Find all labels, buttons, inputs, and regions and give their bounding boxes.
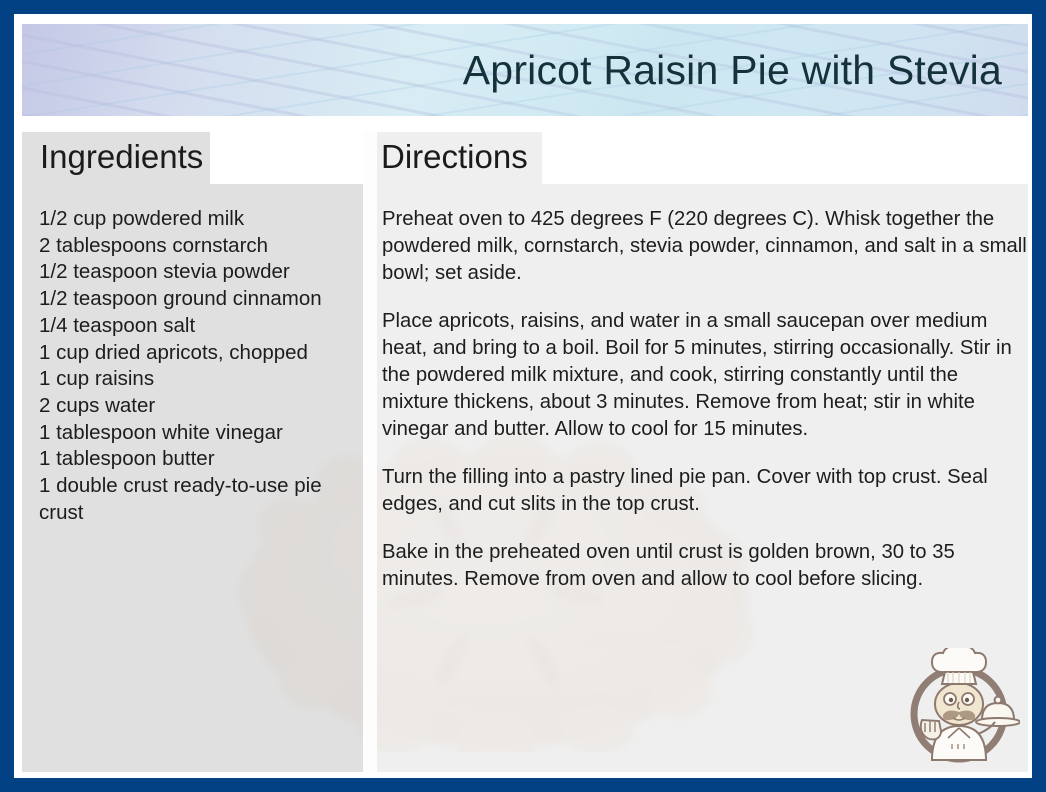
chef-mascot-logo [898, 648, 1020, 770]
list-item: 1/2 teaspoon stevia powder [39, 259, 355, 286]
ingredients-list: 1/2 cup powdered milk 2 tablespoons corn… [39, 206, 355, 526]
directions-body: Preheat oven to 425 degrees F (220 degre… [382, 206, 1027, 593]
recipe-card: Apricot Raisin Pie with Stevia [0, 0, 1046, 792]
list-item: 2 cups water [39, 393, 355, 420]
direction-step: Turn the filling into a pastry lined pie… [382, 464, 1027, 518]
direction-step: Place apricots, raisins, and water in a … [382, 308, 1027, 443]
directions-heading-backdrop [542, 132, 1028, 184]
recipe-page: Apricot Raisin Pie with Stevia [14, 14, 1032, 778]
list-item: 1 cup raisins [39, 366, 355, 393]
list-item: 1 double crust ready-to-use pie crust [39, 473, 355, 526]
title-banner: Apricot Raisin Pie with Stevia [22, 24, 1028, 116]
directions-heading: Directions [381, 137, 528, 177]
ingredients-heading: Ingredients [40, 137, 203, 177]
ingredients-panel: Ingredients 1/2 cup powdered milk 2 tabl… [22, 132, 363, 772]
chef-hat-icon [932, 648, 986, 684]
direction-step: Preheat oven to 425 degrees F (220 degre… [382, 206, 1027, 287]
list-item: 1/2 teaspoon ground cinnamon [39, 286, 355, 313]
list-item: 1 cup dried apricots, chopped [39, 340, 355, 367]
list-item: 2 tablespoons cornstarch [39, 233, 355, 260]
ingredients-heading-backdrop [210, 132, 363, 184]
list-item: 1/4 teaspoon salt [39, 313, 355, 340]
list-item: 1/2 cup powdered milk [39, 206, 355, 233]
direction-step: Bake in the preheated oven until crust i… [382, 539, 1027, 593]
list-item: 1 tablespoon white vinegar [39, 420, 355, 447]
panel-divider [363, 132, 377, 772]
list-item: 1 tablespoon butter [39, 446, 355, 473]
page-title: Apricot Raisin Pie with Stevia [463, 50, 1028, 91]
